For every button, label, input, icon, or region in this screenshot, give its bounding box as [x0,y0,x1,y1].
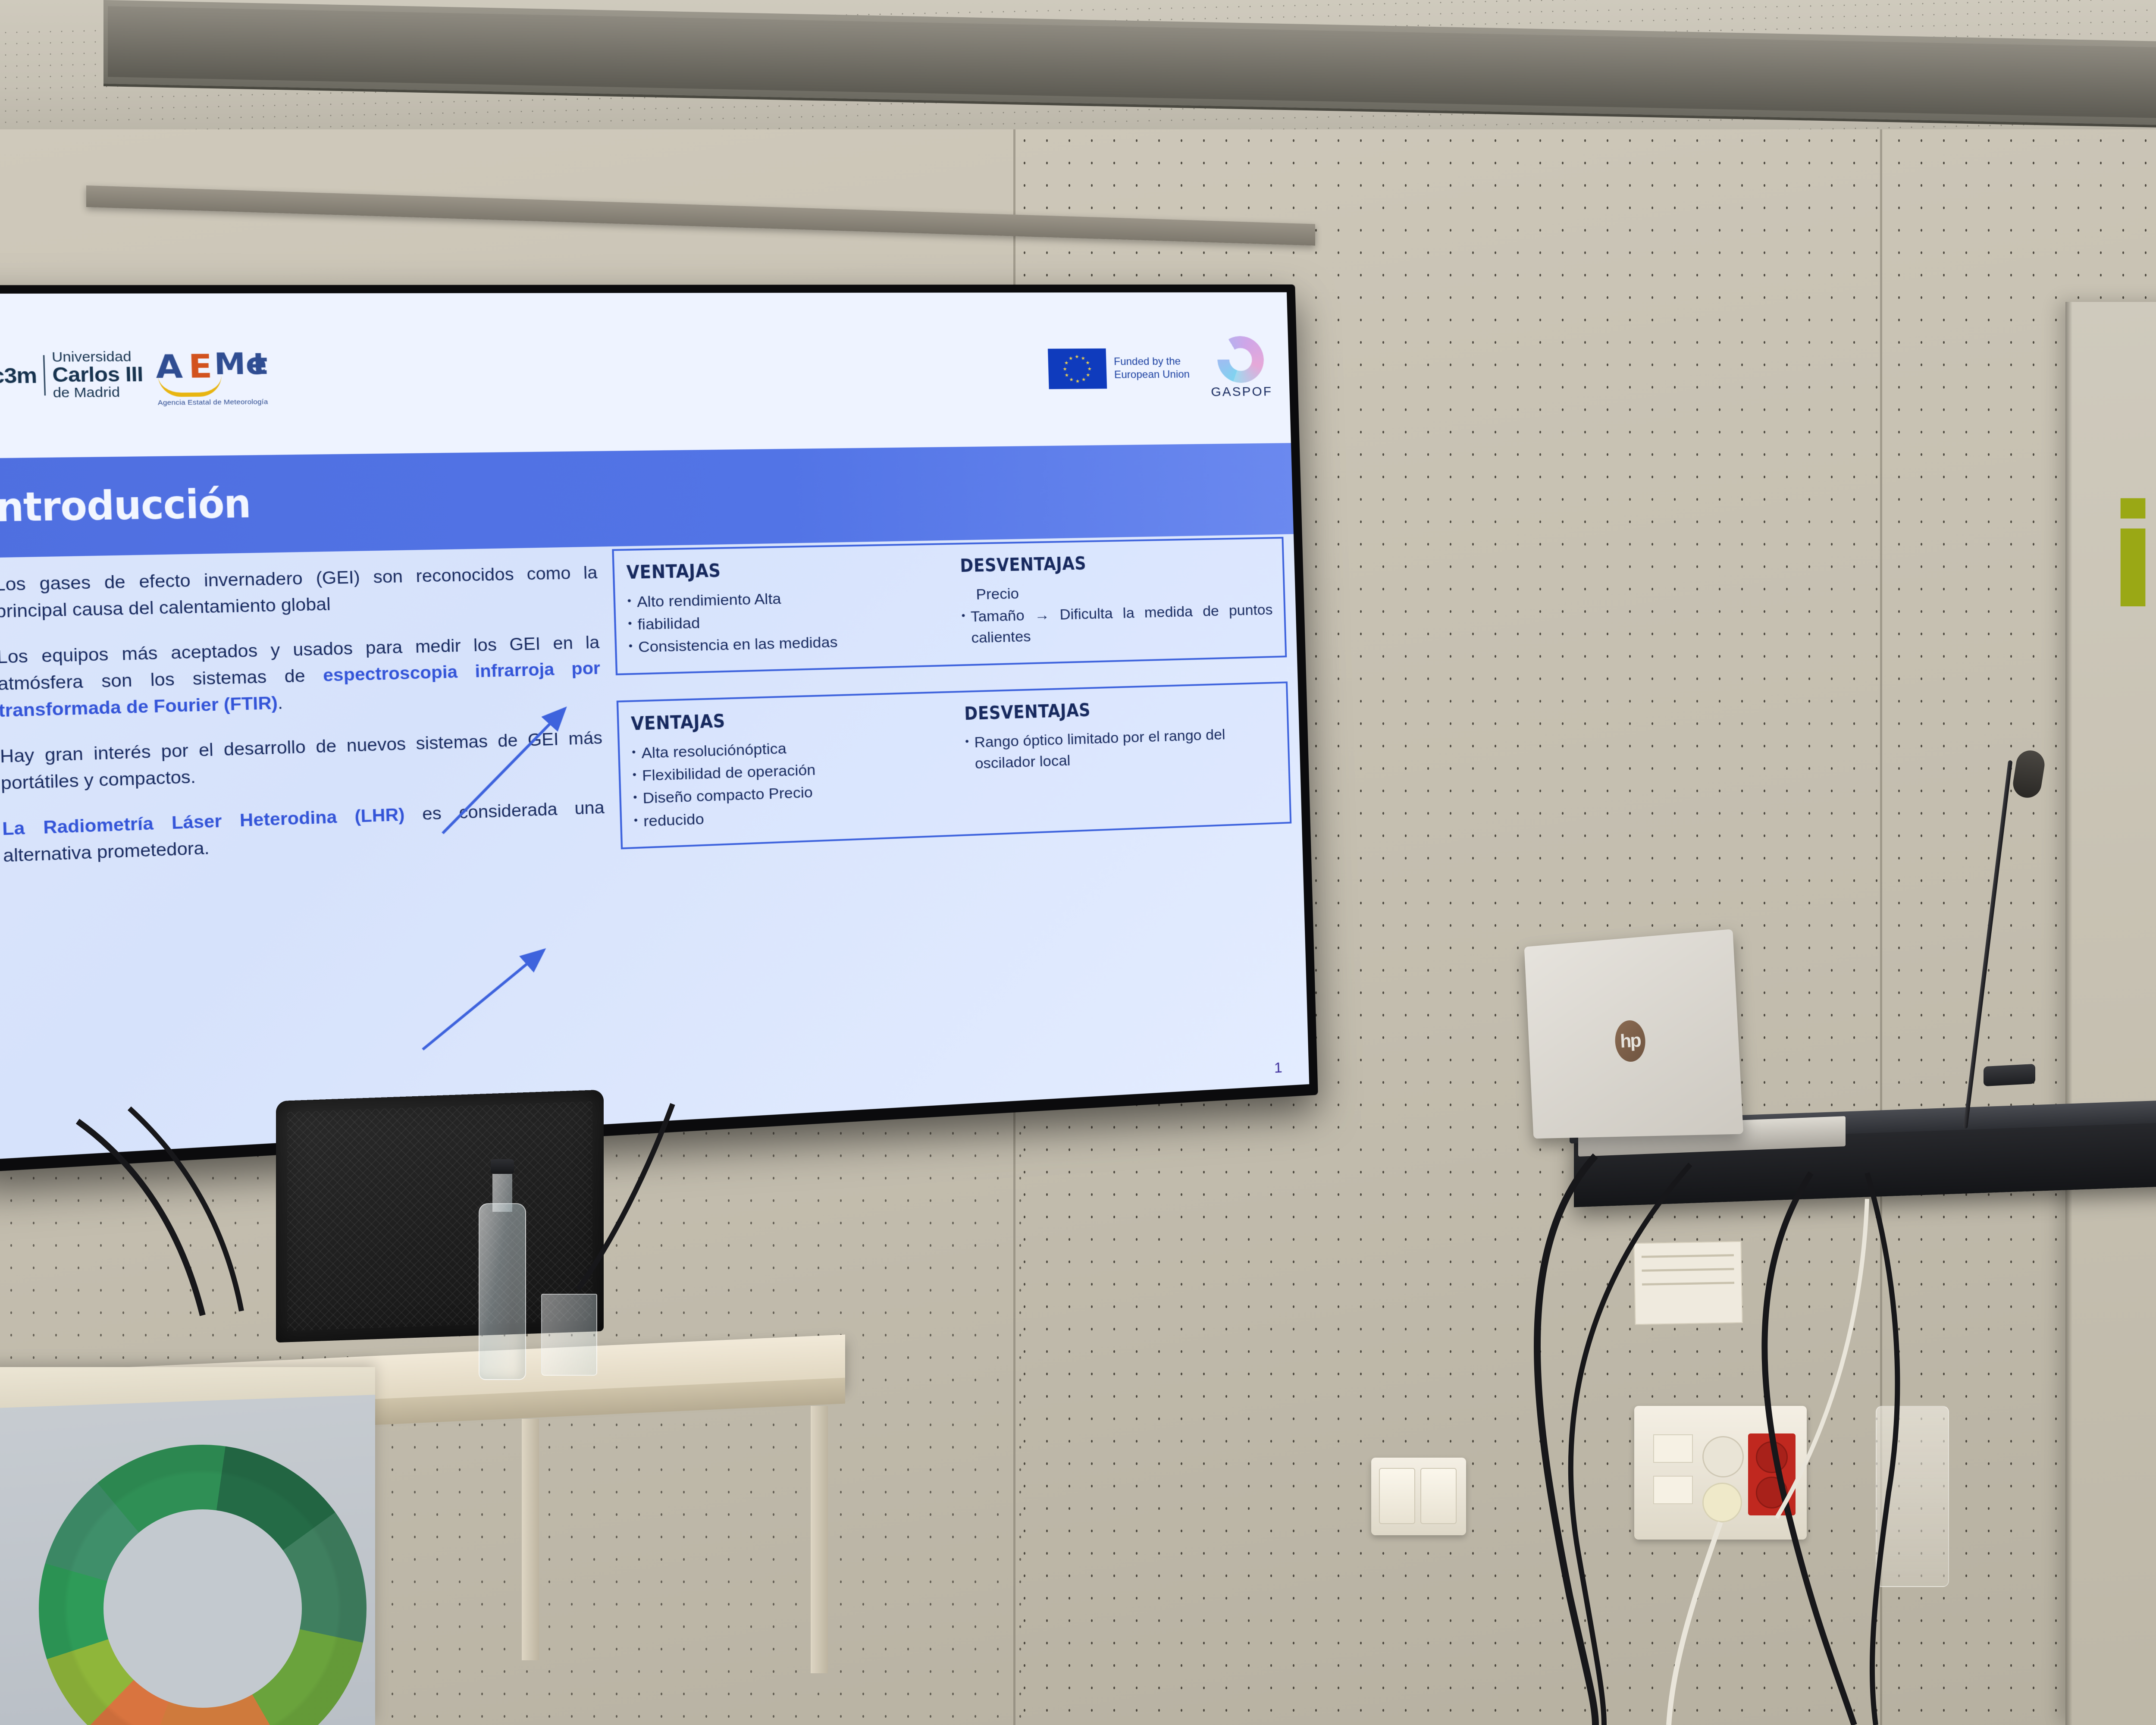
arrow-to-lhr-box [420,950,547,1050]
uc3m-logo: uc3m Universidad Carlos III de Madrid [0,350,144,401]
list-bullet-icon: • [965,732,970,775]
eu-star [1069,356,1073,360]
eu-star [1086,373,1090,377]
uc3m-name-line2: Carlos III [52,364,144,386]
slide-number: 1 [1274,1059,1282,1076]
poster-top-band [0,1367,375,1408]
slide: uc3m Universidad Carlos III de Madrid A … [0,292,1309,1160]
lhr-ventajas-title: VENTAJAS [631,704,957,734]
ftir-ventaja-3: Consistencia en las medidas [638,632,838,659]
wall-socket-panel[interactable] [1634,1406,1807,1540]
bullet-1-text: Los gases de efecto invernadero (GEI) so… [0,560,599,625]
note-line-3 [1642,1282,1734,1286]
uc3m-name-line3: de Madrid [53,386,144,401]
eu-star [1075,354,1079,358]
list-item: •Tamaño → Dificulta la medida de puntos … [961,599,1273,649]
gaspof-logo: GASPOF [1210,336,1273,400]
uc3m-name-block: Universidad Carlos III de Madrid [52,350,144,400]
wall-switch-left[interactable] [1379,1468,1415,1524]
ftir-ventajas-list: •Alto rendimiento Alta •fiabilidad •Cons… [627,584,954,659]
eu-star [1086,361,1090,365]
power-socket-cream[interactable] [1702,1483,1742,1522]
emergency-socket-top[interactable] [1756,1441,1788,1473]
slide-body: • Los gases de efecto invernadero (GEI) … [0,534,1309,1160]
lhr-desventajas-list: •Rango óptico limitado por el rango del … [965,722,1277,775]
list-bullet-icon: • [633,788,638,810]
aemet-logo: A E Me t Agencia Estatal de Meteorología [155,346,280,403]
ceiling [0,0,2156,142]
bullet-4-text: La Radiometría Láser Heterodina (LHR) es… [2,795,605,870]
wall-switch-plate[interactable] [1371,1458,1466,1535]
ftir-desventajas-title: DESVENTAJAS [960,550,1272,576]
ftir-desventaja-1: Tamaño → Dificulta la medida de puntos c… [970,599,1273,649]
drinking-glass [541,1294,597,1376]
lhr-desventajas-column: DESVENTAJAS •Rango óptico limitado por e… [964,695,1279,821]
list-bullet-icon: • [632,765,637,787]
bullet-2-suffix: . [277,693,283,713]
eu-funding-line1: Funded by the [1114,355,1190,369]
eu-star [1075,379,1079,383]
info-logo: i n f o [2104,431,2156,634]
slide-header-right: Funded by the European Union GASPOF [1047,336,1273,401]
list-bullet-icon: • [628,637,633,659]
aemet-swoosh-icon [158,375,222,397]
water-bottle [479,1203,526,1380]
ftir-desventajas-list: Precio •Tamaño → Dificulta la medida de … [961,578,1274,649]
emergency-socket-bottom[interactable] [1756,1477,1788,1509]
plastic-bag [1876,1406,1949,1587]
eu-star [1081,356,1085,360]
page-title: Introducción [0,481,251,532]
list-bullet-icon: • [627,591,632,613]
lhr-ventajas-column: VENTAJAS •Alta resoluciónóptica •Flexibi… [631,704,959,834]
ftir-ventaja-1: Alto rendimiento Alta [636,588,781,613]
eu-star [1065,373,1069,377]
water-bottle-cap [491,1159,514,1174]
info-logo-letter-i: i [2109,500,2156,614]
slide-header: uc3m Universidad Carlos III de Madrid A … [0,292,1291,459]
bullet-2: • Los equipos más aceptados y usados par… [0,630,602,725]
uc3m-divider [43,355,46,396]
aemet-letter-t: t [252,347,268,382]
bullet-3: • Hay gran interés por el desarrollo de … [0,725,603,798]
ftir-desventaja-lead: Precio [976,585,1019,603]
floor-poster [0,1367,375,1725]
presenter [2152,664,2156,1725]
poster-wheel-center [103,1509,302,1708]
eu-star [1063,367,1067,371]
presentation-clicker[interactable] [1984,1064,2035,1086]
network-port-top[interactable] [1653,1434,1693,1463]
list-item: •Rango óptico limitado por el rango del … [965,722,1277,775]
lhr-ventaja-4: reducido [643,808,704,832]
comparison-boxes: VENTAJAS •Alto rendimiento Alta •fiabili… [612,537,1292,875]
eu-stars [1047,348,1106,389]
eu-funding-line2: European Union [1114,368,1190,382]
hp-logo-icon: hp [1614,1019,1646,1063]
laptop[interactable]: hp [1524,929,1743,1138]
bullet-4-highlight: La Radiometría Láser Heterodina (LHR) [2,805,405,839]
table-leg-right [811,1406,828,1673]
lhr-ventaja-1: Alta resoluciónóptica [641,738,787,764]
power-socket-grey[interactable] [1702,1436,1744,1477]
lhr-comparison-box: VENTAJAS •Alta resoluciónóptica •Flexibi… [616,681,1291,849]
gaspof-mark-icon [1217,336,1265,383]
bullet-4: • La Radiometría Láser Heterodina (LHR) … [0,795,605,870]
lhr-desventajas-title: DESVENTAJAS [964,695,1276,724]
wall-switch-right[interactable] [1420,1468,1457,1524]
list-bullet-icon: • [628,614,633,636]
ftir-ventajas-column: VENTAJAS •Alto rendimiento Alta •fiabili… [626,556,954,660]
ftir-comparison-box: VENTAJAS •Alto rendimiento Alta •fiabili… [612,537,1287,675]
bullet-column: • Los gases de efecto invernadero (GEI) … [0,560,606,889]
eu-star [1069,378,1073,382]
list-bullet-icon: • [632,743,636,765]
emergency-power-socket[interactable] [1748,1433,1796,1515]
gaspof-label: GASPOF [1211,385,1272,400]
photo-scene: i n f o DE FOMENTO MURCIA COM MPRE de uc… [0,0,2156,1725]
bullet-3-text: Hay gran interés por el desarrollo de nu… [0,725,603,797]
eu-funding-logo: Funded by the European Union [1047,348,1190,389]
eu-star [1064,361,1068,365]
eu-star [1081,377,1085,381]
list-bullet-icon: • [633,810,638,832]
ftir-ventajas-title: VENTAJAS [626,556,952,583]
aemet-subtitle: Agencia Estatal de Meteorología [158,398,268,407]
ftir-ventaja-2: fiabilidad [637,612,700,636]
presentation-screen[interactable]: uc3m Universidad Carlos III de Madrid A … [0,285,1318,1173]
ftir-desventajas-column: DESVENTAJAS Precio •Tamaño → Dificulta l… [960,550,1274,651]
bullet-2-text: Los equipos más aceptados y usados para … [0,630,602,725]
network-port-bottom[interactable] [1653,1476,1693,1504]
eu-star [1087,367,1091,371]
note-line-2 [1642,1268,1734,1272]
eu-flag-icon [1047,348,1106,389]
lhr-ventajas-list: •Alta resoluciónóptica •Flexibilidad de … [632,732,959,832]
banner-edge-shadow [2065,302,2072,1725]
list-bullet-icon: • [961,606,966,649]
note-line-1 [1642,1254,1734,1258]
table-leg-left [522,1419,539,1660]
lhr-desventaja-1: Rango óptico limitado por el rango del o… [974,722,1277,775]
wall-note-card [1633,1241,1742,1325]
eu-funding-text: Funded by the European Union [1114,355,1190,382]
bullet-1: • Los gases de efecto invernadero (GEI) … [0,560,599,626]
event-banner: i n f o DE FOMENTO MURCIA [2065,302,2156,1725]
uc3m-mark: uc3m [0,363,37,389]
